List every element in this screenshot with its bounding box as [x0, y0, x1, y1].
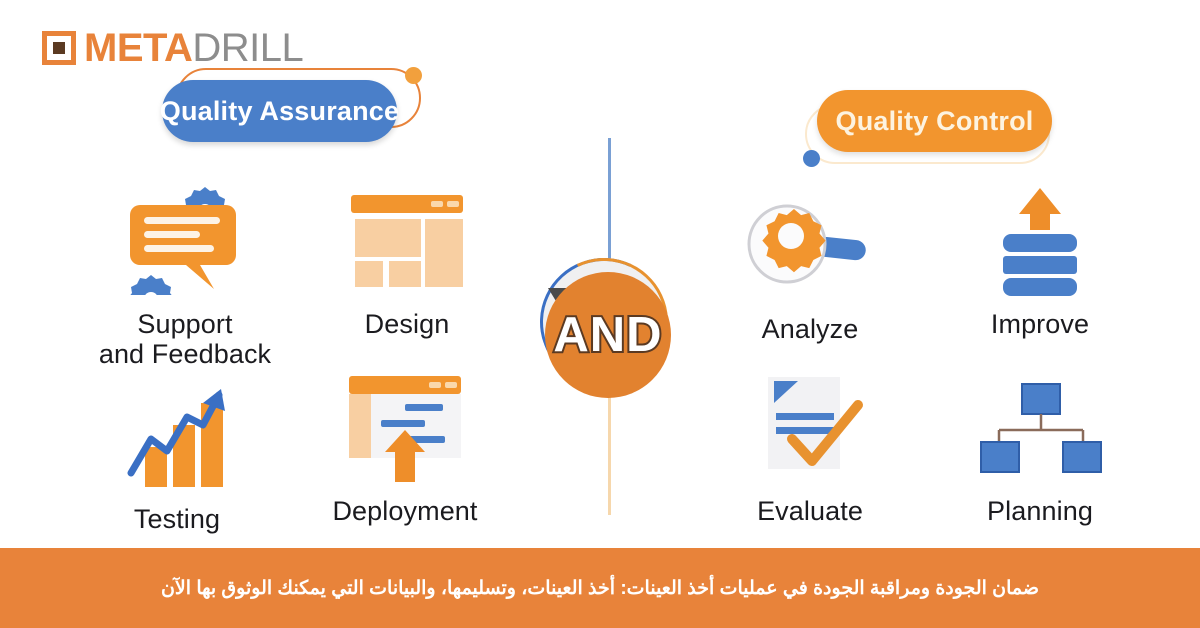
browser-upload-arrow-icon	[343, 372, 467, 484]
item-testing-label: Testing	[134, 504, 220, 534]
item-support-label-line-2: and Feedback	[99, 339, 271, 369]
item-testing: Testing	[82, 380, 272, 534]
arrow-up-stack-icon	[985, 185, 1095, 297]
orange-dot-icon	[405, 67, 422, 84]
logo-mark-inner-square	[53, 42, 65, 54]
item-evaluate-label: Evaluate	[757, 496, 863, 526]
brand-logo: METADRILL	[42, 28, 303, 68]
org-chart-icon	[977, 372, 1103, 484]
magnifier-gear-icon	[745, 190, 875, 302]
center-axis-bottom-line	[608, 395, 611, 515]
quality-control-pill[interactable]: Quality Control	[817, 90, 1052, 152]
quality-assurance-pill[interactable]: Quality Assurance	[162, 80, 397, 142]
logo-wordmark: METADRILL	[84, 28, 303, 68]
logo-text-meta: META	[84, 26, 192, 70]
square-in-square-icon	[42, 31, 76, 65]
item-planning: Planning	[945, 372, 1135, 526]
and-badge: AND	[545, 272, 671, 398]
item-support-and-feedback-label: Support and Feedback	[99, 309, 271, 369]
item-improve: Improve	[945, 185, 1135, 339]
logo-text-drill: DRILL	[192, 26, 303, 70]
item-support-label-line-1: Support	[99, 309, 271, 339]
item-deployment: Deployment	[310, 372, 500, 526]
bottom-banner-text: ضمان الجودة ومراقبة الجودة في عمليات أخذ…	[121, 577, 1079, 600]
item-design-label: Design	[365, 309, 450, 339]
item-analyze: Analyze	[715, 190, 905, 344]
item-deployment-label: Deployment	[332, 496, 477, 526]
wireframe-layout-icon	[347, 185, 467, 297]
item-improve-label: Improve	[991, 309, 1089, 339]
item-design: Design	[312, 185, 502, 339]
quality-control-label: Quality Control	[836, 106, 1034, 137]
item-evaluate: Evaluate	[715, 372, 905, 526]
and-badge-label: AND	[553, 307, 662, 363]
item-planning-label: Planning	[987, 496, 1093, 526]
quality-control-pill-group: Quality Control	[805, 90, 1040, 152]
item-analyze-label: Analyze	[762, 314, 859, 344]
blue-dot-icon	[803, 150, 820, 167]
item-support-and-feedback: Support and Feedback	[90, 185, 280, 369]
document-checkmark-icon	[750, 372, 870, 484]
bottom-banner: ضمان الجودة ومراقبة الجودة في عمليات أخذ…	[0, 548, 1200, 628]
infographic-canvas: METADRILL Quality Assurance Quality Cont…	[0, 0, 1200, 628]
speech-bubble-gears-icon	[126, 185, 244, 297]
quality-assurance-pill-group: Quality Assurance	[162, 80, 397, 142]
quality-assurance-label: Quality Assurance	[160, 96, 400, 127]
bar-chart-arrow-icon	[117, 380, 237, 492]
